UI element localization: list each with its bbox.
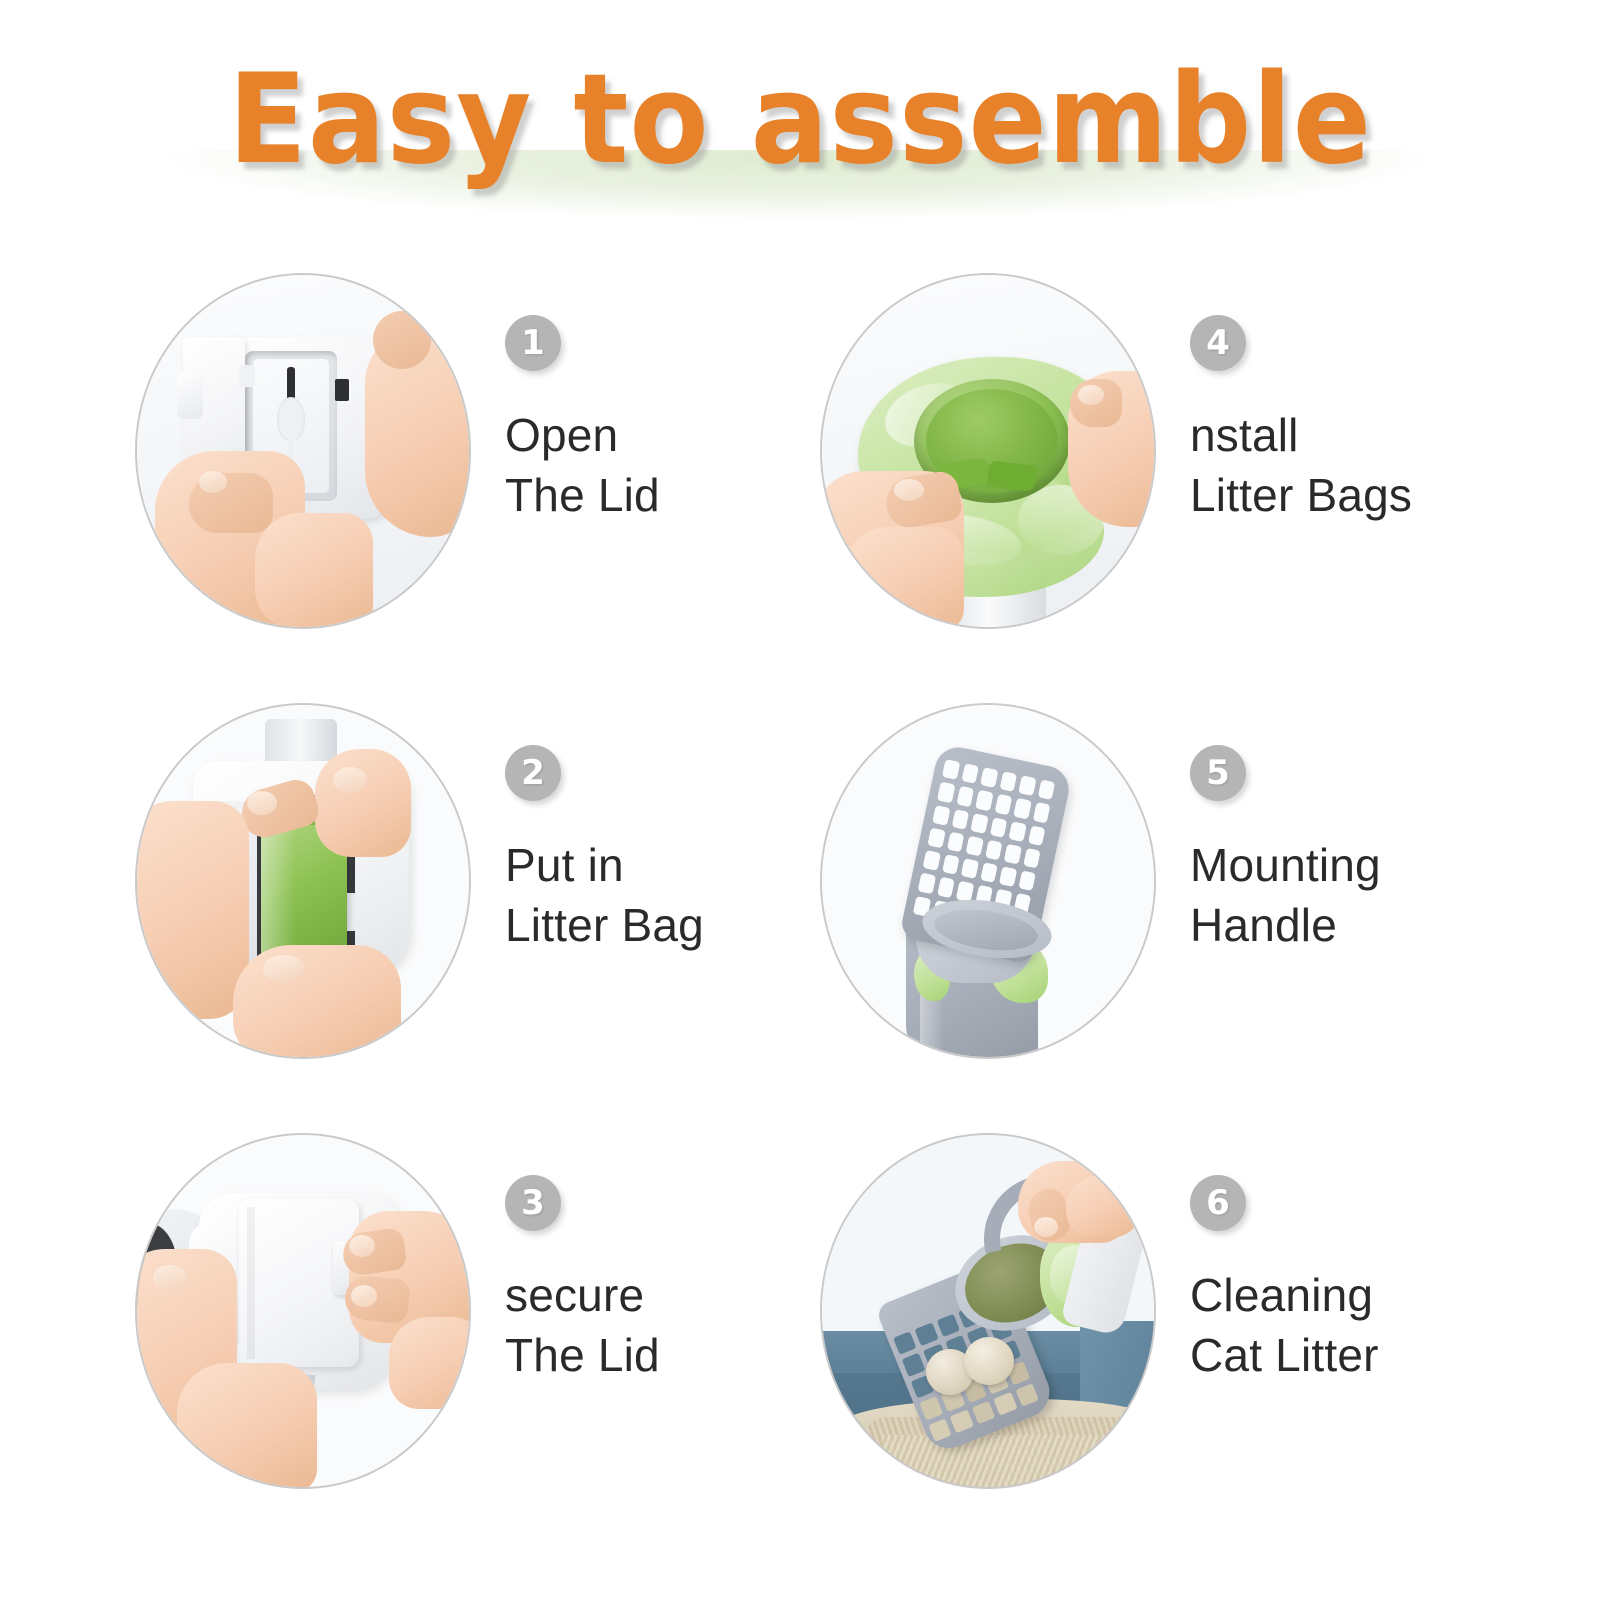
step-badge-4: 4 [1190, 315, 1246, 371]
photo-install-litter-bags [820, 273, 1156, 629]
step-card-4: 4 nstall Litter Bags [795, 255, 1495, 685]
photo-cleaning-cat-litter [820, 1133, 1156, 1489]
step-info-1: 1 Open The Lid [505, 315, 805, 525]
step-badge-2: 2 [505, 745, 561, 801]
step-info-5: 5 Mounting Handle [1190, 745, 1490, 955]
step-row-2: 2 Put in Litter Bag [0, 685, 1600, 1115]
step-card-3: 3 secure The Lid [110, 1115, 810, 1545]
step-label-3: secure The Lid [505, 1265, 805, 1385]
photo-mounting-handle [820, 703, 1156, 1059]
step-label-5: Mounting Handle [1190, 835, 1490, 955]
step-label-2: Put in Litter Bag [505, 835, 805, 955]
step-info-2: 2 Put in Litter Bag [505, 745, 805, 955]
step-badge-5: 5 [1190, 745, 1246, 801]
photo-open-the-lid [135, 273, 471, 629]
photo-secure-the-lid [135, 1133, 471, 1489]
step-row-3: 3 secure The Lid [0, 1115, 1600, 1545]
step-info-6: 6 Cleaning Cat Litter [1190, 1175, 1490, 1385]
step-label-1: Open The Lid [505, 405, 805, 525]
step-card-5: 5 Mounting Handle [795, 685, 1495, 1115]
steps-grid: 1 Open The Lid [0, 255, 1600, 1595]
step-card-6: 6 Cleaning Cat Litter [795, 1115, 1495, 1545]
title-banner: Easy to assemble [0, 0, 1600, 230]
step-label-4: nstall Litter Bags [1190, 405, 1490, 525]
step-badge-6: 6 [1190, 1175, 1246, 1231]
step-info-4: 4 nstall Litter Bags [1190, 315, 1490, 525]
photo-put-in-litter-bag [135, 703, 471, 1059]
step-card-1: 1 Open The Lid [110, 255, 810, 685]
step-info-3: 3 secure The Lid [505, 1175, 805, 1385]
step-badge-1: 1 [505, 315, 561, 371]
step-label-6: Cleaning Cat Litter [1190, 1265, 1490, 1385]
step-badge-3: 3 [505, 1175, 561, 1231]
page-title: Easy to assemble [56, 58, 1544, 182]
step-card-2: 2 Put in Litter Bag [110, 685, 810, 1115]
step-row-1: 1 Open The Lid [0, 255, 1600, 685]
